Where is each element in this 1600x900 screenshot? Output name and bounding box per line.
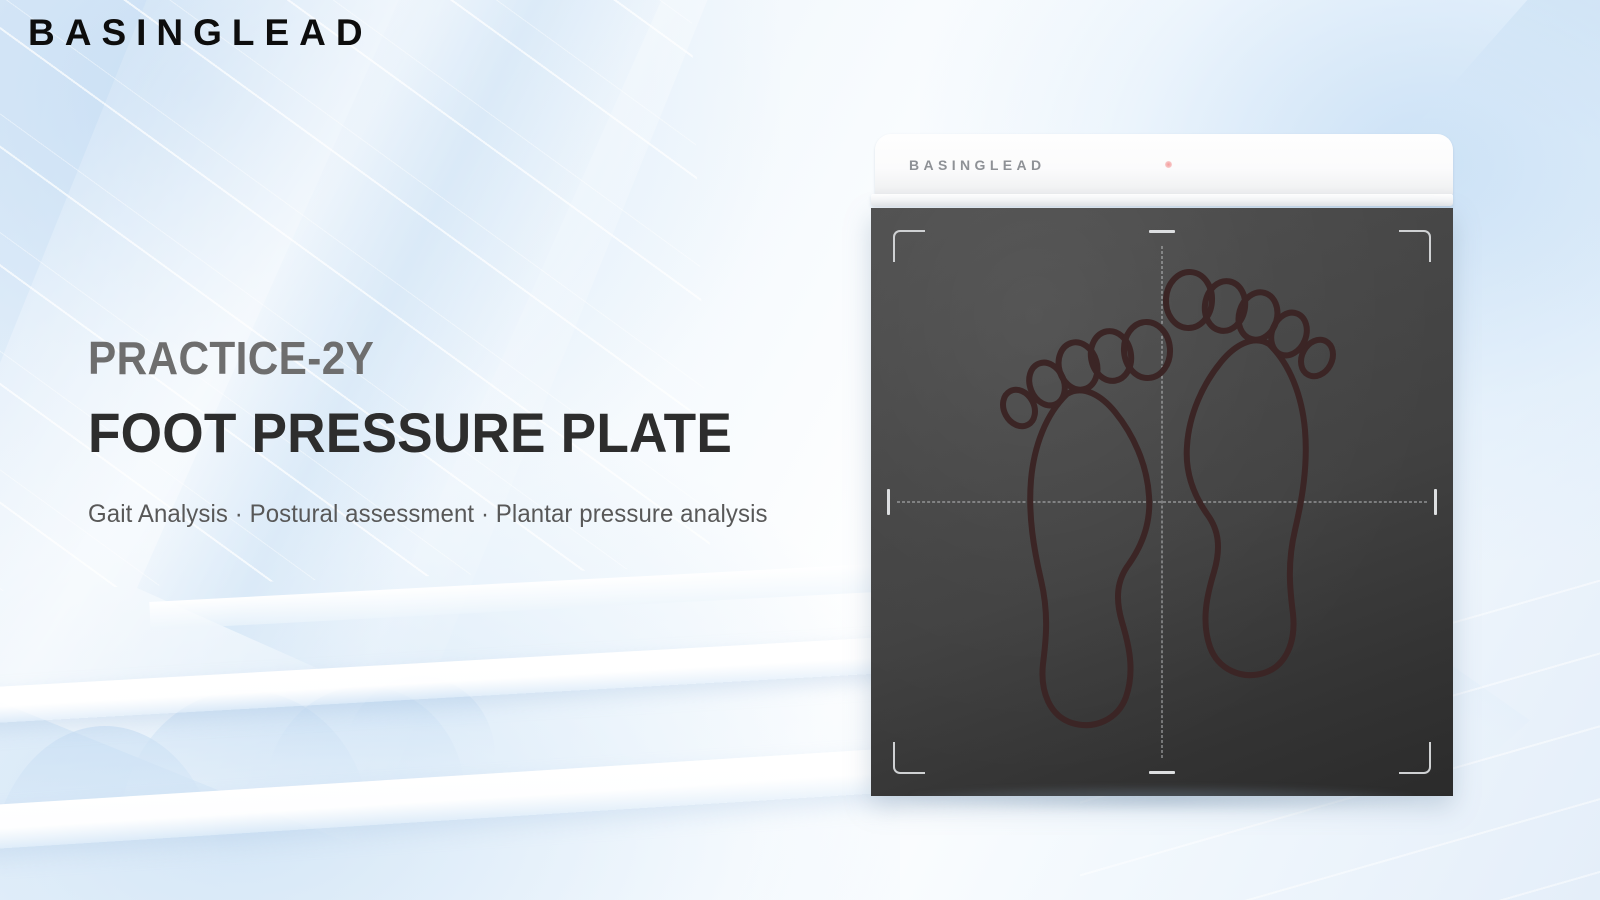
right-footprint-icon [1164,270,1339,675]
plate-wrap [871,208,1453,796]
product-tagline: Gait Analysis · Postural assessment · Pl… [88,499,818,529]
device-brand-label: BASINGLEAD [909,157,1046,173]
background-bump-3 [265,686,465,796]
product-banner: BASINGLEAD PRACTICE-2Y FOOT PRESSURE PLA… [0,0,1600,900]
device-bezel-lip [871,194,1453,206]
sensor-plate [871,208,1453,796]
background-bump-2 [120,690,370,830]
power-indicator-led [1165,161,1172,168]
background-bump-4 [345,676,495,756]
left-footprint-icon [997,320,1172,725]
background-bump-1 [0,726,220,876]
page-title: FOOT PRESSURE PLATE [88,405,810,461]
device-drop-shadow [911,786,1413,812]
copy-block: PRACTICE-2Y FOOT PRESSURE PLATE Gait Ana… [88,335,848,529]
foot-pressure-plate-device: BASINGLEAD [871,134,1453,796]
product-model-name: PRACTICE-2Y [88,335,787,381]
device-top-bezel: BASINGLEAD [875,134,1453,196]
company-logo: BASINGLEAD [28,12,373,54]
footprint-outlines [871,208,1453,796]
